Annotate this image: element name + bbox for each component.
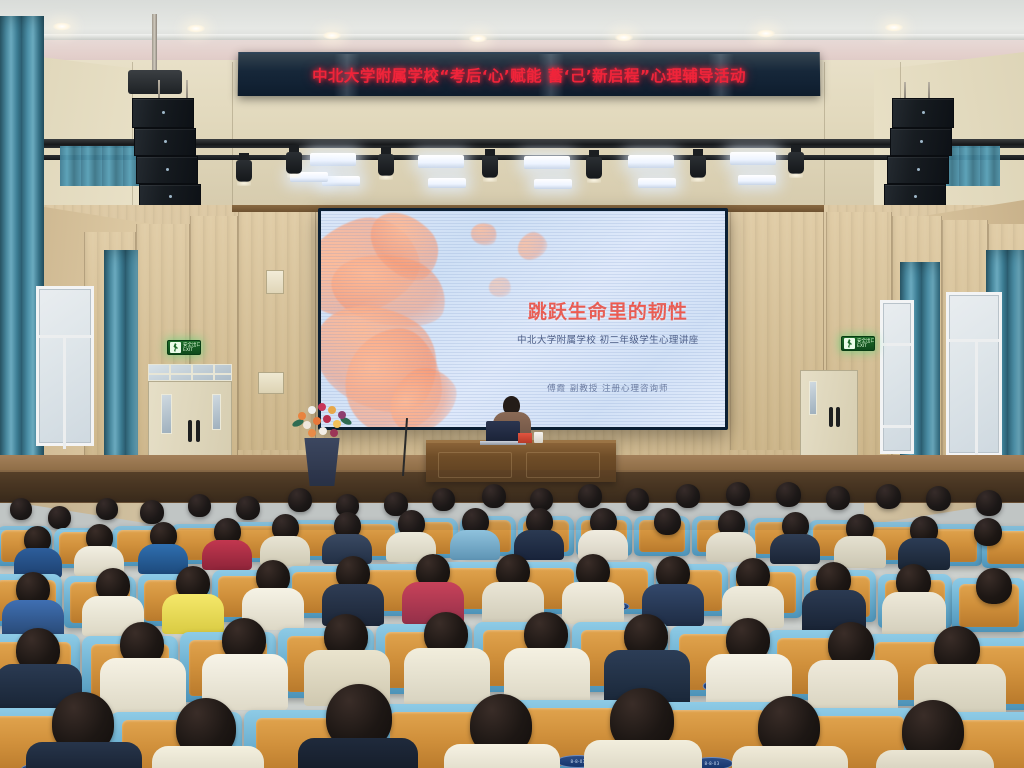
exit-sign-right: 安全出口EXIT bbox=[841, 336, 875, 351]
ceiling-downlight bbox=[468, 34, 488, 43]
red-box-object bbox=[518, 433, 532, 443]
slide-presenter: 傅霞 副教授 注册心理咨询师 bbox=[499, 382, 717, 394]
door-window bbox=[809, 381, 817, 415]
door-push-handle[interactable] bbox=[188, 420, 192, 442]
audience-head bbox=[976, 568, 1012, 604]
stage-light-panel bbox=[628, 155, 674, 168]
stage-light-panel bbox=[524, 156, 570, 169]
wall-seam bbox=[232, 62, 233, 207]
transom-bar bbox=[149, 373, 231, 375]
flower-petal-decoration bbox=[513, 228, 551, 264]
ceiling-downlight bbox=[884, 23, 904, 32]
spotlight-icon bbox=[236, 160, 252, 182]
door-window bbox=[212, 394, 221, 430]
speaker-rigging-wire bbox=[928, 82, 930, 98]
door-push-handle[interactable] bbox=[829, 407, 833, 427]
door-push-handle[interactable] bbox=[836, 407, 840, 427]
speaker-cabinet bbox=[887, 156, 949, 184]
audience-torso bbox=[584, 740, 702, 768]
stage-light-panel bbox=[428, 178, 466, 188]
banner-text: 中北大学附属学校“考后‘心’赋能 蓄‘己’新启程”心理辅导活动 bbox=[238, 64, 820, 86]
stage-light-panel bbox=[638, 178, 676, 188]
speaker-cabinet bbox=[892, 98, 954, 128]
audience-torso bbox=[298, 738, 418, 768]
audience-area: 8-8-03 8-8-03 8-8-03 bbox=[0, 470, 1024, 768]
audience-torso bbox=[642, 530, 692, 560]
speaker-cabinet bbox=[132, 98, 194, 128]
stage-light-panel bbox=[730, 152, 776, 165]
stage-light-panel bbox=[738, 175, 776, 185]
window-right bbox=[946, 292, 1002, 456]
flower-petal-decoration bbox=[487, 275, 512, 299]
audience-torso bbox=[876, 750, 994, 768]
slide-subtitle: 中北大学附属学校 初二年级学生心理讲座 bbox=[499, 332, 717, 346]
spotlight-icon bbox=[788, 152, 804, 174]
audience-torso bbox=[162, 594, 224, 634]
speaker-cabinet bbox=[890, 128, 952, 156]
audience-torso bbox=[26, 742, 142, 768]
audience-torso bbox=[770, 534, 820, 564]
spotlight-icon bbox=[378, 154, 394, 176]
led-banner: 中北大学附属学校“考后‘心’赋能 蓄‘己’新启程”心理辅导活动 bbox=[238, 52, 821, 96]
flower-arrangement bbox=[292, 398, 354, 444]
door-push-handle[interactable] bbox=[196, 420, 200, 442]
flower-petal-decoration bbox=[468, 219, 500, 249]
audience-torso bbox=[202, 540, 252, 570]
speaker-cabinet bbox=[134, 128, 196, 156]
door-transom bbox=[148, 364, 232, 381]
wall-seam bbox=[824, 62, 825, 207]
audience-torso bbox=[100, 658, 186, 714]
auditorium-photo: 中北大学附属学校“考后‘心’赋能 蓄‘己’新启程”心理辅导活动 bbox=[0, 0, 1024, 768]
audience-torso bbox=[444, 744, 560, 768]
spotlight-icon bbox=[286, 152, 302, 174]
laptop bbox=[486, 421, 520, 443]
exit-sign-label: 安全出口EXIT bbox=[857, 339, 875, 349]
speaker-cabinet bbox=[136, 156, 198, 184]
slide-canvas: 跳跃生命里的韧性 中北大学附属学校 初二年级学生心理讲座 傅霞 副教授 注册心理… bbox=[321, 211, 725, 427]
audience-torso bbox=[732, 746, 848, 768]
speaker-rigging-wire bbox=[186, 80, 188, 98]
window-mullion bbox=[949, 339, 999, 342]
window-mullion bbox=[975, 339, 978, 457]
audience-torso bbox=[504, 648, 590, 706]
wall-plaque bbox=[258, 372, 284, 394]
wall-switch-panel[interactable] bbox=[266, 270, 284, 294]
running-person-icon bbox=[170, 342, 181, 353]
exit-sign-left: 安全出口EXIT bbox=[167, 340, 201, 355]
projector-mount-pole bbox=[152, 14, 157, 72]
audience-torso bbox=[882, 592, 946, 636]
stage-light-panel bbox=[534, 179, 572, 189]
window-mullion bbox=[883, 343, 911, 346]
window-right-inner bbox=[880, 300, 914, 454]
window-left bbox=[36, 286, 94, 446]
ceiling-downlight bbox=[186, 24, 206, 33]
exit-sign-label: 安全出口EXIT bbox=[183, 343, 201, 353]
spotlight-icon bbox=[482, 156, 498, 178]
window-mullion bbox=[883, 425, 911, 428]
ceiling-downlight bbox=[52, 22, 72, 31]
slide-title: 跳跃生命里的韧性 bbox=[503, 297, 713, 324]
ceiling-downlight bbox=[322, 31, 342, 40]
paper-cup bbox=[534, 432, 543, 443]
led-display-screen: 跳跃生命里的韧性 中北大学附属学校 初二年级学生心理讲座 傅霞 副教授 注册心理… bbox=[318, 208, 728, 430]
audience-torso bbox=[152, 746, 264, 768]
curtain-left bbox=[104, 250, 138, 468]
running-person-icon bbox=[844, 338, 855, 349]
ceiling-downlight bbox=[614, 33, 634, 42]
audience-depth-shading bbox=[0, 470, 1024, 530]
audience-torso bbox=[404, 648, 490, 706]
ceiling-downlight bbox=[756, 29, 776, 38]
spotlight-icon bbox=[690, 156, 706, 178]
stage-light-panel bbox=[418, 155, 464, 168]
door-window bbox=[161, 394, 172, 434]
audience-torso bbox=[450, 530, 500, 560]
projector-icon bbox=[128, 70, 182, 94]
window-mullion bbox=[63, 335, 66, 449]
stage-light-panel bbox=[310, 153, 356, 166]
audience-torso bbox=[562, 582, 624, 624]
speaker-rigging-wire bbox=[158, 80, 160, 98]
speaker-rigging-wire bbox=[904, 82, 906, 98]
spotlight-icon bbox=[586, 157, 602, 179]
